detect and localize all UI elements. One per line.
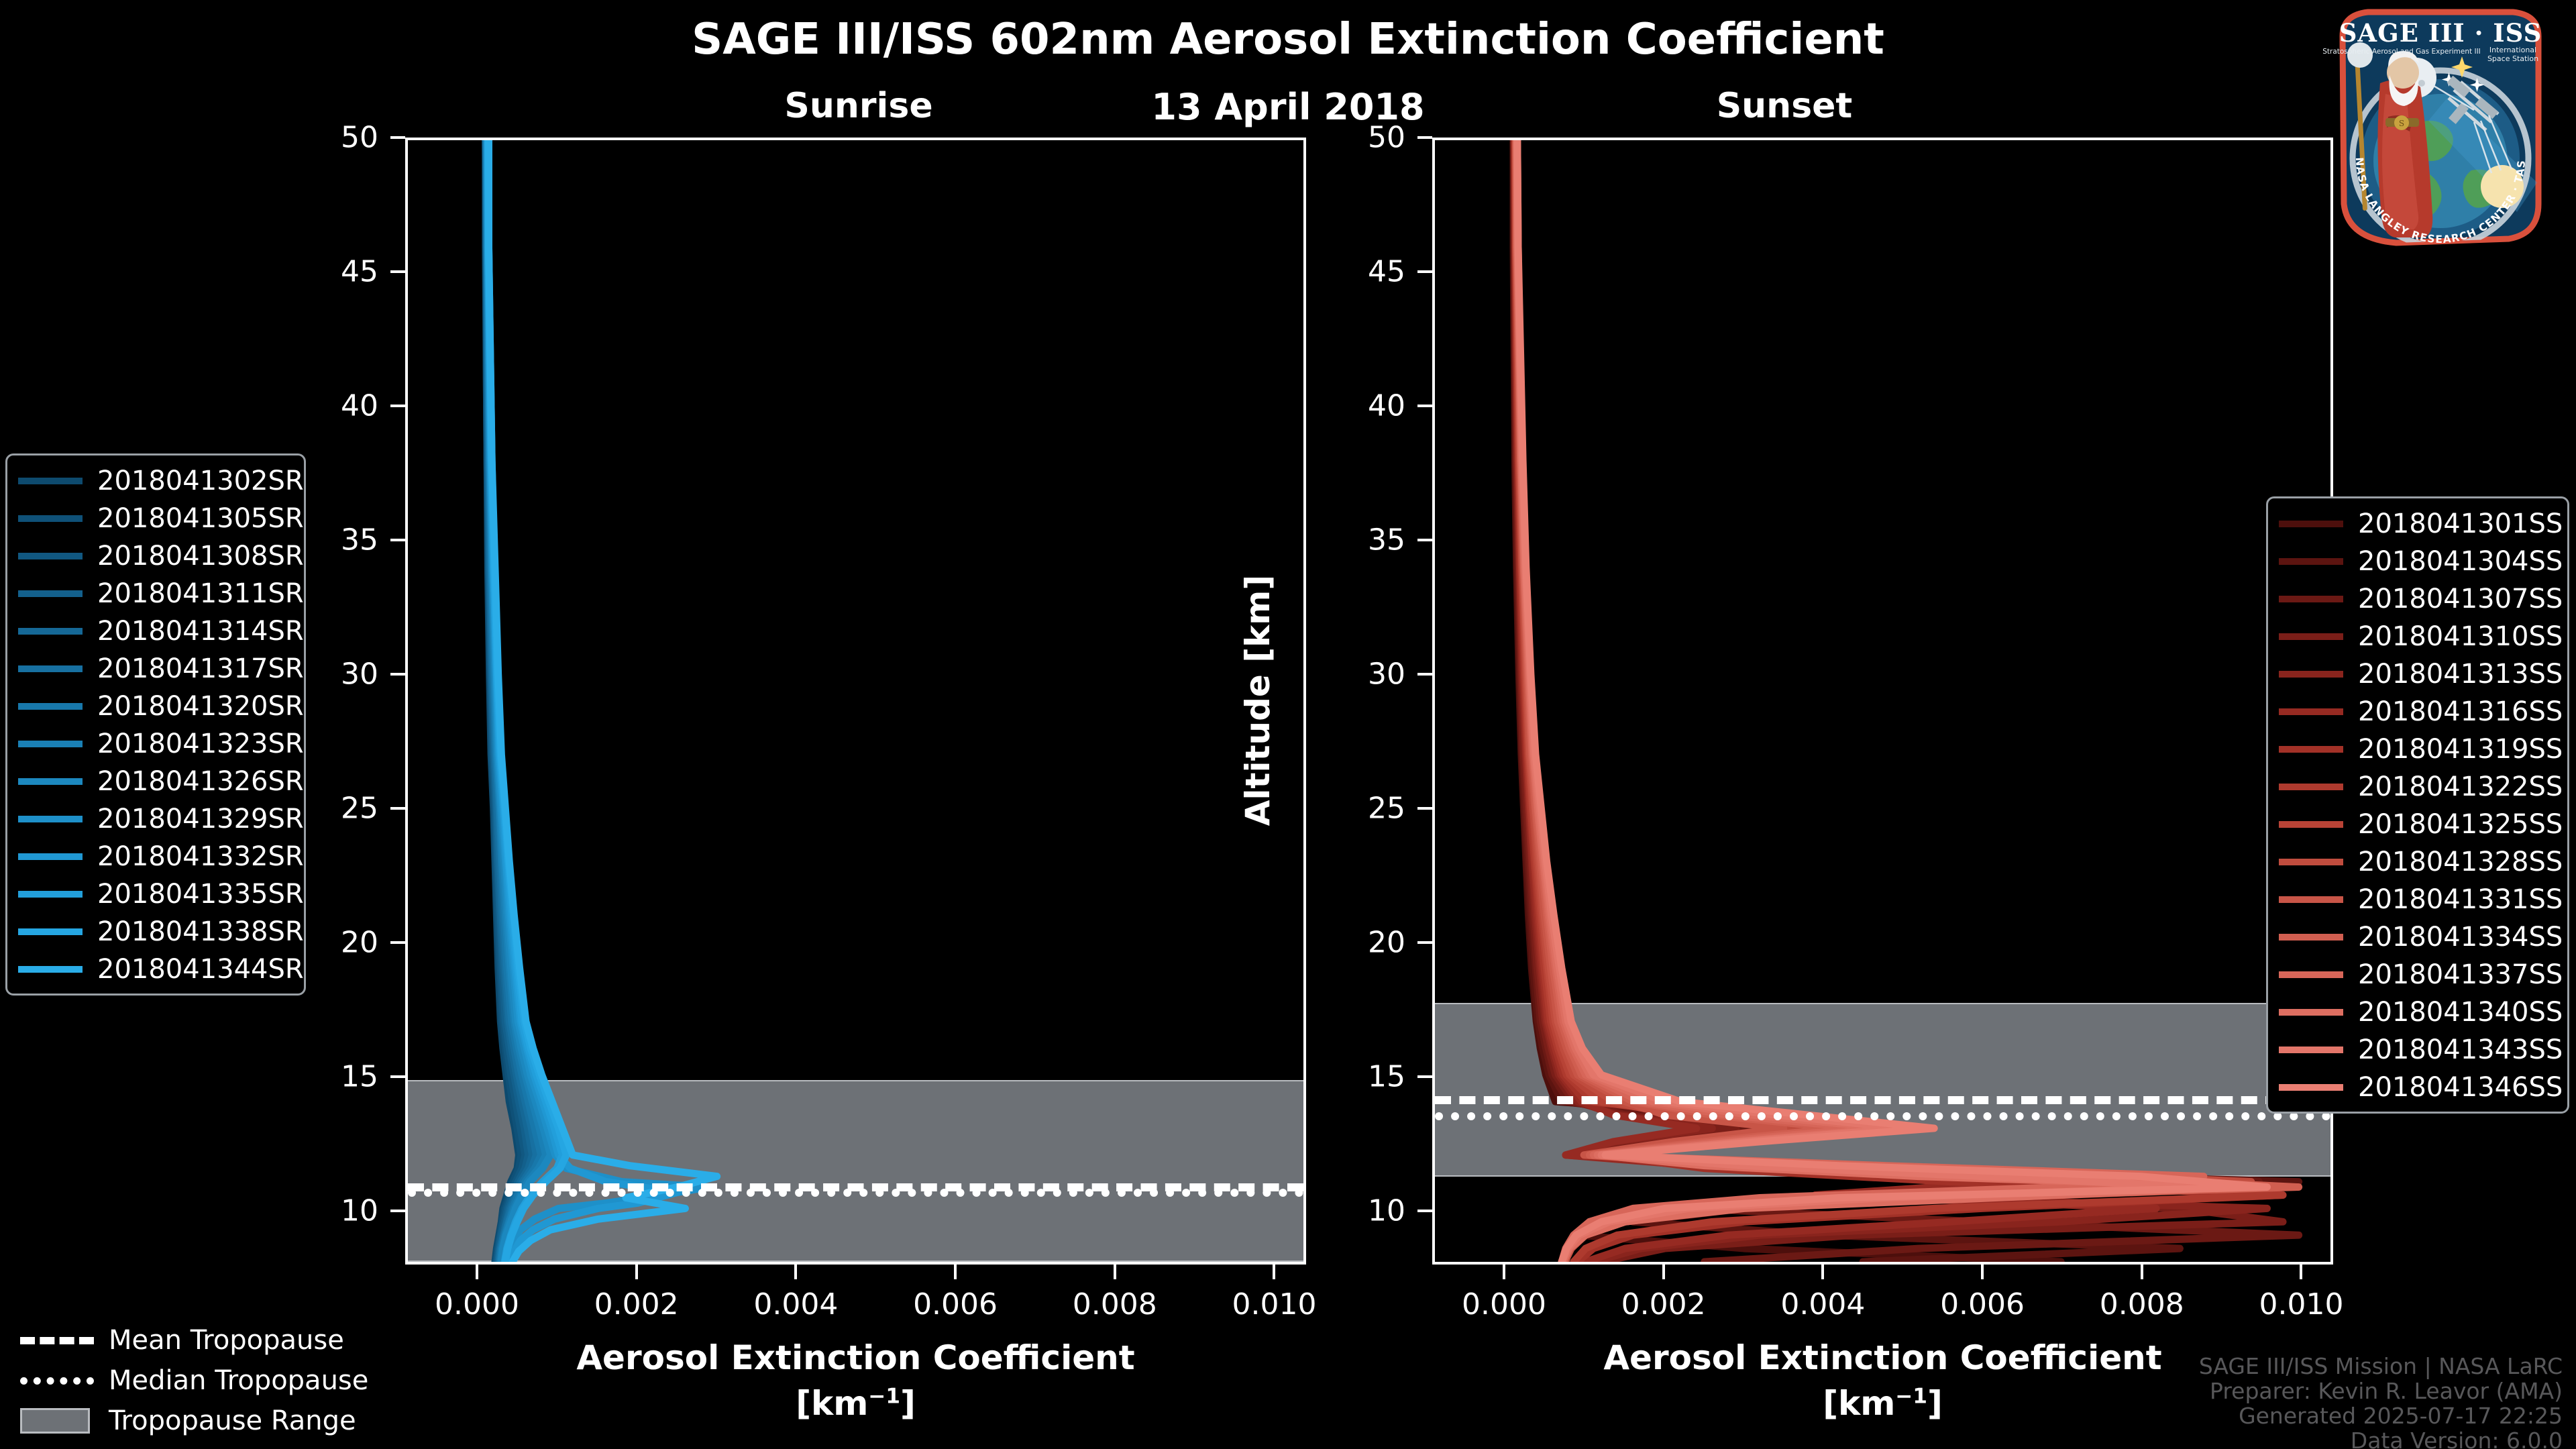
legend-color-swatch bbox=[2279, 708, 2343, 715]
legend-entry-label: 2018041343SS bbox=[2358, 1034, 2563, 1065]
figure-root: SAGE III/ISS 602nm Aerosol Extinction Co… bbox=[0, 0, 2576, 1449]
y-tick-mark bbox=[1417, 405, 1432, 407]
legend-label-median: Median Tropopause bbox=[109, 1365, 368, 1396]
y-tick-label: 10 bbox=[258, 1194, 378, 1228]
legend-entry-label: 2018041328SS bbox=[2358, 847, 2563, 877]
dotted-line-icon bbox=[20, 1377, 94, 1385]
legend-entry-label: 2018041310SS bbox=[2358, 621, 2563, 652]
legend-item[interactable]: 2018041326SR bbox=[18, 763, 293, 800]
legend-item[interactable]: 2018041317SR bbox=[18, 650, 293, 688]
legend-color-swatch bbox=[2279, 746, 2343, 753]
profile-curves-sunrise bbox=[408, 140, 1303, 1262]
x-tick-label: 0.002 bbox=[594, 1287, 679, 1322]
legend-entry-label: 2018041311SR bbox=[97, 578, 304, 609]
dashed-line-icon bbox=[20, 1337, 94, 1344]
x-axis-unit-sunrise: [km−1] bbox=[405, 1384, 1306, 1423]
legend-item[interactable]: 2018041334SS bbox=[2279, 918, 2557, 956]
panel-title-sunrise: Sunrise bbox=[671, 86, 1046, 126]
y-tick-label: 50 bbox=[258, 121, 378, 155]
legend-color-swatch bbox=[18, 853, 83, 860]
legend-item[interactable]: 2018041323SR bbox=[18, 725, 293, 763]
legend-item[interactable]: 2018041322SS bbox=[2279, 768, 2557, 806]
legend-item[interactable]: 2018041325SS bbox=[2279, 806, 2557, 843]
mean-tropopause-line-sunset bbox=[1435, 1096, 2330, 1104]
svg-text:SAGE III · ISS: SAGE III · ISS bbox=[2339, 18, 2542, 48]
x-unit-suffix-left: ] bbox=[900, 1384, 916, 1423]
legend-entry-label: 2018041344SR bbox=[97, 954, 304, 985]
legend-color-swatch bbox=[18, 553, 83, 559]
legend-color-swatch bbox=[2279, 558, 2343, 565]
y-tick-mark bbox=[1417, 539, 1432, 541]
y-tick-label: 45 bbox=[1285, 255, 1405, 289]
y-tick-mark bbox=[390, 405, 405, 407]
legend-color-swatch bbox=[18, 928, 83, 935]
credit-line-version: Data Version: 6.0.0 bbox=[2199, 1428, 2563, 1449]
y-tick-label: 15 bbox=[1285, 1060, 1405, 1094]
y-tick-label: 25 bbox=[1285, 792, 1405, 826]
legend-entry-label: 2018041346SS bbox=[2358, 1072, 2563, 1103]
y-tick-mark bbox=[390, 1075, 405, 1078]
legend-color-swatch bbox=[18, 966, 83, 973]
legend-color-swatch bbox=[2279, 521, 2343, 527]
legend-entry-label: 2018041325SS bbox=[2358, 809, 2563, 840]
legend-item[interactable]: 2018041310SS bbox=[2279, 618, 2557, 655]
x-tick-label: 0.010 bbox=[1232, 1287, 1316, 1322]
x-tick-mark bbox=[794, 1265, 797, 1279]
event-legend-sunset[interactable]: 2018041301SS2018041304SS2018041307SS2018… bbox=[2266, 496, 2569, 1114]
legend-entry-label: 2018041337SS bbox=[2358, 959, 2563, 990]
legend-item-mean-tropopause: Mean Tropopause bbox=[20, 1320, 369, 1360]
x-tick-label: 0.000 bbox=[1462, 1287, 1546, 1322]
y-tick-mark bbox=[390, 673, 405, 676]
y-tick-mark bbox=[390, 1210, 405, 1212]
x-tick-label: 0.002 bbox=[1621, 1287, 1706, 1322]
x-tick-mark bbox=[635, 1265, 638, 1279]
profile-curves-sunset bbox=[1435, 140, 2330, 1262]
legend-color-swatch bbox=[2279, 971, 2343, 978]
y-tick-mark bbox=[1417, 1075, 1432, 1078]
y-tick-mark bbox=[1417, 941, 1432, 944]
legend-item[interactable]: 2018041346SS bbox=[2279, 1069, 2557, 1106]
sage-iii-iss-logo: S SAGE III · ISS Stratospheric Aerosol a… bbox=[2316, 3, 2565, 252]
y-tick-label: 40 bbox=[1285, 389, 1405, 423]
x-tick-mark bbox=[2300, 1265, 2302, 1279]
svg-text:S: S bbox=[2399, 119, 2404, 128]
credit-line-preparer: Preparer: Kevin R. Leavor (AMA) bbox=[2199, 1379, 2563, 1403]
legend-item[interactable]: 2018041305SR bbox=[18, 500, 293, 537]
series-line bbox=[1517, 140, 2204, 1262]
y-tick-mark bbox=[1417, 807, 1432, 810]
y-tick-mark bbox=[390, 941, 405, 944]
legend-entry-label: 2018041329SR bbox=[97, 804, 304, 835]
legend-entry-label: 2018041304SS bbox=[2358, 546, 2563, 577]
plot-area-sunset bbox=[1432, 138, 2333, 1265]
legend-color-swatch bbox=[18, 816, 83, 822]
legend-item[interactable]: 2018041311SR bbox=[18, 575, 293, 612]
legend-item[interactable]: 2018041331SS bbox=[2279, 881, 2557, 918]
x-tick-label: 0.006 bbox=[1940, 1287, 2025, 1322]
legend-color-swatch bbox=[18, 628, 83, 635]
y-tick-mark bbox=[390, 807, 405, 810]
y-tick-label: 20 bbox=[1285, 926, 1405, 960]
panel-title-sunset: Sunset bbox=[1597, 86, 1972, 126]
y-tick-mark bbox=[1417, 673, 1432, 676]
x-tick-mark bbox=[1503, 1265, 1505, 1279]
legend-entry-label: 2018041320SR bbox=[97, 691, 304, 722]
legend-item[interactable]: 2018041308SR bbox=[18, 537, 293, 575]
legend-color-swatch bbox=[2279, 859, 2343, 865]
credits-block: SAGE III/ISS Mission | NASA LaRC Prepare… bbox=[2199, 1354, 2563, 1449]
legend-color-swatch bbox=[2279, 896, 2343, 903]
credit-line-mission: SAGE III/ISS Mission | NASA LaRC bbox=[2199, 1354, 2563, 1379]
page-title: SAGE III/ISS 602nm Aerosol Extinction Co… bbox=[0, 15, 2576, 64]
legend-entry-label: 2018041319SS bbox=[2358, 734, 2563, 765]
legend-item[interactable]: 2018041313SS bbox=[2279, 655, 2557, 693]
legend-color-swatch bbox=[2279, 1009, 2343, 1016]
legend-item[interactable]: 2018041332SR bbox=[18, 838, 293, 875]
legend-item[interactable]: 2018041314SR bbox=[18, 612, 293, 650]
svg-text:Stratospheric Aerosol and Gas: Stratospheric Aerosol and Gas Experiment… bbox=[2322, 48, 2481, 56]
x-tick-label: 0.004 bbox=[1780, 1287, 1865, 1322]
legend-item-median-tropopause: Median Tropopause bbox=[20, 1360, 369, 1401]
legend-item[interactable]: 2018041307SS bbox=[2279, 580, 2557, 618]
y-tick-mark bbox=[1417, 136, 1432, 139]
plot-area-sunrise bbox=[405, 138, 1306, 1265]
legend-entry-label: 2018041317SR bbox=[97, 653, 304, 684]
x-unit-prefix-left: [km bbox=[796, 1384, 868, 1423]
x-tick-label: 0.000 bbox=[435, 1287, 519, 1322]
x-tick-label: 0.008 bbox=[2100, 1287, 2184, 1322]
y-tick-mark bbox=[390, 539, 405, 541]
x-unit-exponent-left: −1 bbox=[868, 1384, 900, 1408]
y-tick-mark bbox=[1417, 270, 1432, 273]
legend-color-swatch bbox=[18, 665, 83, 672]
y-tick-mark bbox=[390, 270, 405, 273]
legend-item[interactable]: 2018041337SS bbox=[2279, 956, 2557, 994]
x-axis-unit-sunset: [km−1] bbox=[1432, 1384, 2333, 1423]
x-tick-label: 0.006 bbox=[913, 1287, 998, 1322]
tropopause-legend: Mean Tropopause Median Tropopause Tropop… bbox=[20, 1320, 369, 1441]
y-axis-title-sunset: Altitude [km] bbox=[1238, 553, 1277, 848]
y-tick-label: 30 bbox=[1285, 657, 1405, 692]
legend-color-swatch bbox=[2279, 1046, 2343, 1053]
x-tick-mark bbox=[954, 1265, 957, 1279]
legend-item[interactable]: 2018041319SS bbox=[2279, 731, 2557, 768]
legend-label-range: Tropopause Range bbox=[109, 1405, 356, 1436]
legend-color-swatch bbox=[2279, 934, 2343, 941]
legend-entry-label: 2018041316SS bbox=[2358, 696, 2563, 727]
median-tropopause-line-sunset bbox=[1435, 1112, 2330, 1120]
x-tick-label: 0.010 bbox=[2259, 1287, 2343, 1322]
legend-item[interactable]: 2018041301SS bbox=[2279, 505, 2557, 543]
median-tropopause-line-sunrise bbox=[408, 1189, 1303, 1197]
x-tick-mark bbox=[1273, 1265, 1275, 1279]
credit-line-generated: Generated 2025-07-17 22:25 bbox=[2199, 1403, 2563, 1428]
legend-entry-label: 2018041323SR bbox=[97, 729, 304, 759]
y-tick-mark bbox=[390, 136, 405, 139]
legend-item[interactable]: 2018041302SR bbox=[18, 462, 293, 500]
legend-color-swatch bbox=[18, 515, 83, 522]
legend-color-swatch bbox=[2279, 596, 2343, 602]
legend-item[interactable]: 2018041320SR bbox=[18, 688, 293, 725]
x-unit-exponent-right: −1 bbox=[1895, 1384, 1927, 1408]
x-tick-mark bbox=[1981, 1265, 1984, 1279]
x-axis-title-sunrise: Aerosol Extinction Coefficient bbox=[405, 1338, 1306, 1377]
legend-item[interactable]: 2018041329SR bbox=[18, 800, 293, 838]
legend-entry-label: 2018041305SR bbox=[97, 503, 304, 534]
svg-text:International: International bbox=[2489, 46, 2536, 54]
y-tick-label: 40 bbox=[258, 389, 378, 423]
x-tick-mark bbox=[1114, 1265, 1116, 1279]
legend-entry-label: 2018041332SR bbox=[97, 841, 304, 872]
legend-color-swatch bbox=[18, 891, 83, 898]
legend-entry-label: 2018041302SR bbox=[97, 466, 304, 496]
x-tick-mark bbox=[1821, 1265, 1824, 1279]
event-legend-sunrise[interactable]: 2018041302SR2018041305SR2018041308SR2018… bbox=[5, 453, 306, 996]
y-tick-mark bbox=[1417, 1210, 1432, 1212]
series-line bbox=[1517, 140, 2243, 1262]
legend-item[interactable]: 2018041344SR bbox=[18, 951, 293, 988]
x-tick-label: 0.004 bbox=[753, 1287, 838, 1322]
y-tick-label: 50 bbox=[1285, 121, 1405, 155]
legend-color-swatch bbox=[18, 478, 83, 484]
x-tick-mark bbox=[2141, 1265, 2143, 1279]
legend-entry-label: 2018041338SR bbox=[97, 916, 304, 947]
legend-entry-label: 2018041334SS bbox=[2358, 922, 2563, 953]
x-axis-title-sunset: Aerosol Extinction Coefficient bbox=[1432, 1338, 2333, 1377]
legend-entry-label: 2018041340SS bbox=[2358, 997, 2563, 1028]
legend-entry-label: 2018041308SR bbox=[97, 541, 304, 572]
legend-color-swatch bbox=[2279, 784, 2343, 790]
legend-entry-label: 2018041326SR bbox=[97, 766, 304, 797]
legend-entry-label: 2018041314SR bbox=[97, 616, 304, 647]
legend-color-swatch bbox=[2279, 1084, 2343, 1091]
legend-color-swatch bbox=[2279, 633, 2343, 640]
legend-item[interactable]: 2018041316SS bbox=[2279, 693, 2557, 731]
x-unit-suffix-right: ] bbox=[1927, 1384, 1943, 1423]
y-tick-label: 45 bbox=[258, 255, 378, 289]
svg-text:Space Station: Space Station bbox=[2487, 54, 2538, 63]
gray-band-swatch-icon bbox=[20, 1408, 94, 1434]
legend-item-tropopause-range: Tropopause Range bbox=[20, 1401, 369, 1441]
legend-item[interactable]: 2018041340SS bbox=[2279, 994, 2557, 1031]
y-tick-label: 10 bbox=[1285, 1194, 1405, 1228]
legend-entry-label: 2018041322SS bbox=[2358, 771, 2563, 802]
legend-color-swatch bbox=[18, 703, 83, 710]
y-tick-label: 35 bbox=[1285, 523, 1405, 557]
legend-color-swatch bbox=[2279, 821, 2343, 828]
y-tick-label: 15 bbox=[258, 1060, 378, 1094]
legend-entry-label: 2018041335SR bbox=[97, 879, 304, 910]
legend-entry-label: 2018041313SS bbox=[2358, 659, 2563, 690]
legend-item[interactable]: 2018041304SS bbox=[2279, 543, 2557, 580]
legend-item[interactable]: 2018041338SR bbox=[18, 913, 293, 951]
legend-label-mean: Mean Tropopause bbox=[109, 1325, 344, 1356]
legend-entry-label: 2018041301SS bbox=[2358, 508, 2563, 539]
legend-color-swatch bbox=[18, 778, 83, 785]
x-tick-mark bbox=[1662, 1265, 1665, 1279]
legend-color-swatch bbox=[18, 741, 83, 747]
x-tick-label: 0.008 bbox=[1073, 1287, 1157, 1322]
legend-entry-label: 2018041307SS bbox=[2358, 584, 2563, 614]
x-unit-prefix-right: [km bbox=[1823, 1384, 1895, 1423]
legend-entry-label: 2018041331SS bbox=[2358, 884, 2563, 915]
legend-item[interactable]: 2018041335SR bbox=[18, 875, 293, 913]
legend-item[interactable]: 2018041343SS bbox=[2279, 1031, 2557, 1069]
legend-color-swatch bbox=[2279, 671, 2343, 678]
legend-item[interactable]: 2018041328SS bbox=[2279, 843, 2557, 881]
x-tick-mark bbox=[476, 1265, 478, 1279]
legend-color-swatch bbox=[18, 590, 83, 597]
